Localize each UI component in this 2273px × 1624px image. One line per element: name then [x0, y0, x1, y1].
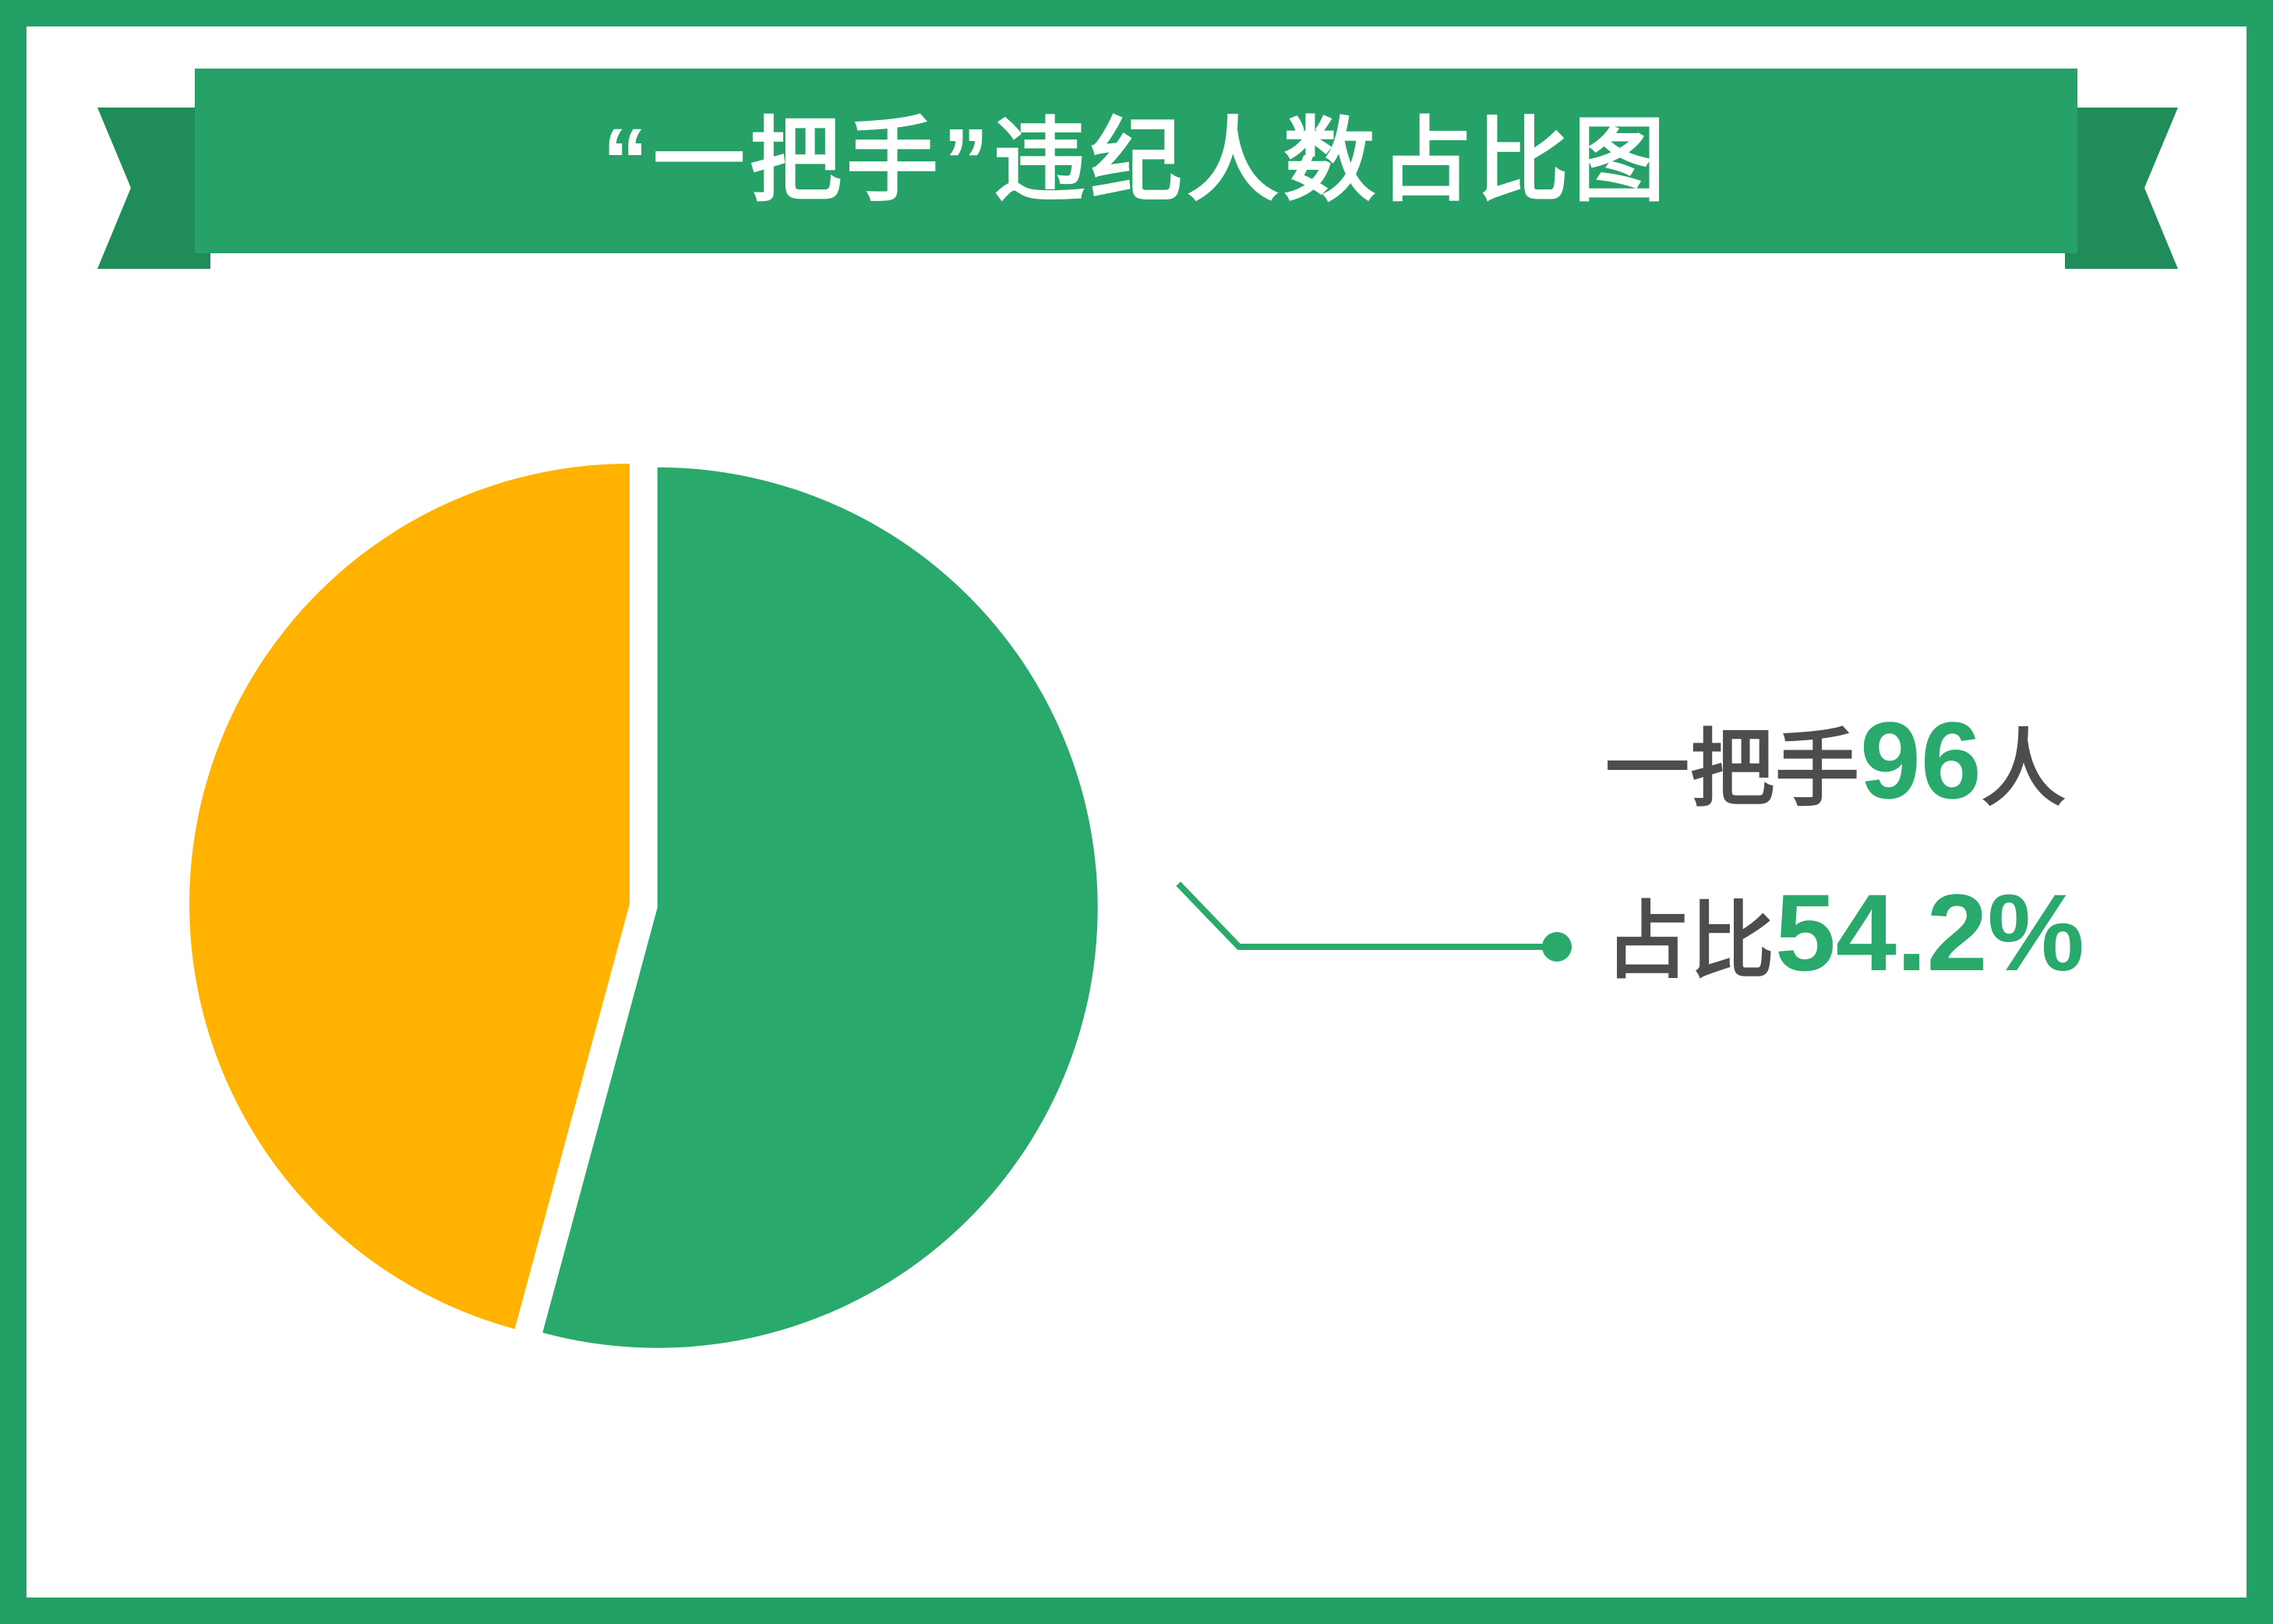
callout-leader-line: [1130, 842, 1629, 1013]
page-title: “一把手”违纪人数占比图: [195, 69, 2077, 253]
poster-canvas: “一把手”违纪人数占比图 一把手96人 占比54.2%: [0, 0, 2273, 1624]
leader-polyline: [1181, 886, 1551, 947]
callout-people-prefix: 一把手: [1605, 722, 1860, 816]
ribbon-tail-left: [97, 108, 210, 269]
callout-people-suffix: 人: [1982, 722, 2067, 816]
pie-slice-other: [189, 464, 630, 1329]
pie-chart: [156, 366, 1247, 1496]
callout-percent-prefix: 占比: [1605, 894, 1775, 988]
leader-endpoint-dot: [1542, 932, 1572, 962]
callout-people-value: 96: [1860, 699, 1982, 821]
callout-row-percent: 占比54.2%: [1605, 877, 2166, 989]
ribbon-tail-right: [2065, 108, 2178, 269]
callout-percent-value: 54.2%: [1775, 871, 2084, 994]
callout-labels: 一把手96人 占比54.2%: [1605, 705, 2166, 989]
callout-row-people: 一把手96人: [1605, 705, 2166, 817]
